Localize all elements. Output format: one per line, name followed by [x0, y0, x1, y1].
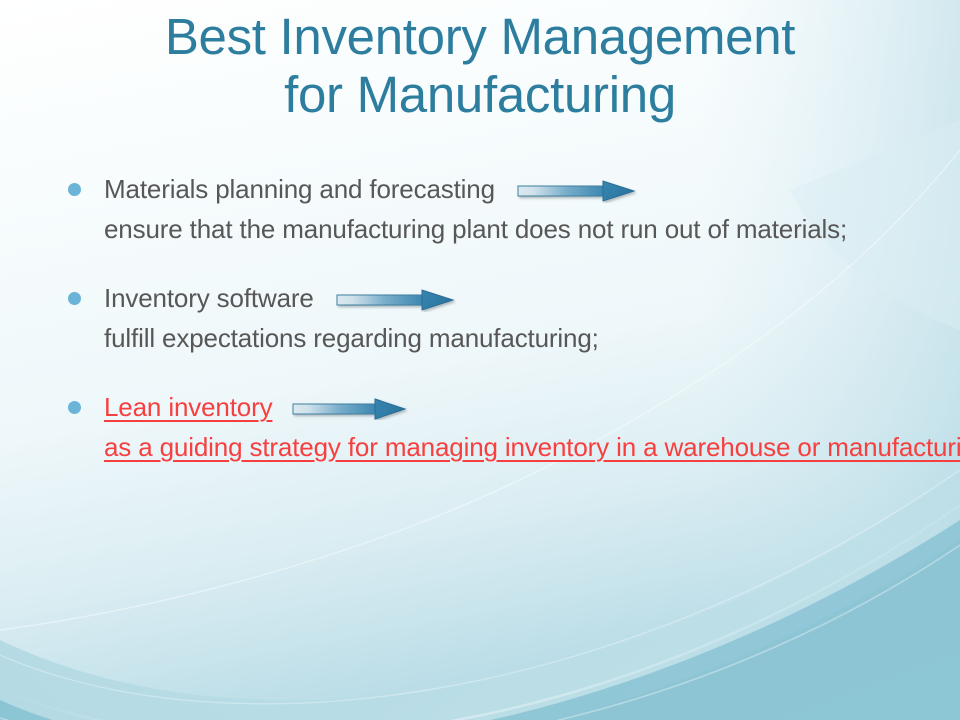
bullet-dot-icon [68, 401, 81, 414]
right-arrow-icon [292, 398, 408, 420]
bullet-text-2: Inventory software [104, 283, 599, 353]
bullet-item-3: Lean inventory [58, 388, 908, 467]
bullet-item-2: Inventory software [58, 279, 908, 358]
bullet-3-before-arrow: Lean inventory [104, 392, 272, 422]
presentation-slide: Best Inventory Management for Manufactur… [0, 0, 960, 720]
right-arrow-icon [336, 288, 456, 312]
bullet-dot-icon [68, 292, 81, 305]
slide-title: Best Inventory Management for Manufactur… [50, 8, 910, 124]
right-arrow-icon [517, 179, 637, 203]
bullet-dot-icon [68, 183, 81, 196]
bullet-text-3: Lean inventory [104, 392, 960, 462]
bullet-1-before-arrow: Materials planning and forecasting [104, 174, 495, 204]
bullet-2-before-arrow: Inventory software [104, 283, 314, 313]
bullet-2-after-arrow: fulfill expectations regarding manufactu… [104, 323, 599, 353]
bullet-1-after-arrow: ensure that the manufacturing plant does… [104, 214, 847, 244]
bullet-item-1: Materials planning and forecasting [58, 170, 908, 249]
slide-body: Materials planning and forecasting [58, 170, 908, 490]
bullet-text-1: Materials planning and forecasting [104, 174, 847, 244]
bullet-3-after-arrow: as a guiding strategy for managing inven… [104, 432, 960, 462]
